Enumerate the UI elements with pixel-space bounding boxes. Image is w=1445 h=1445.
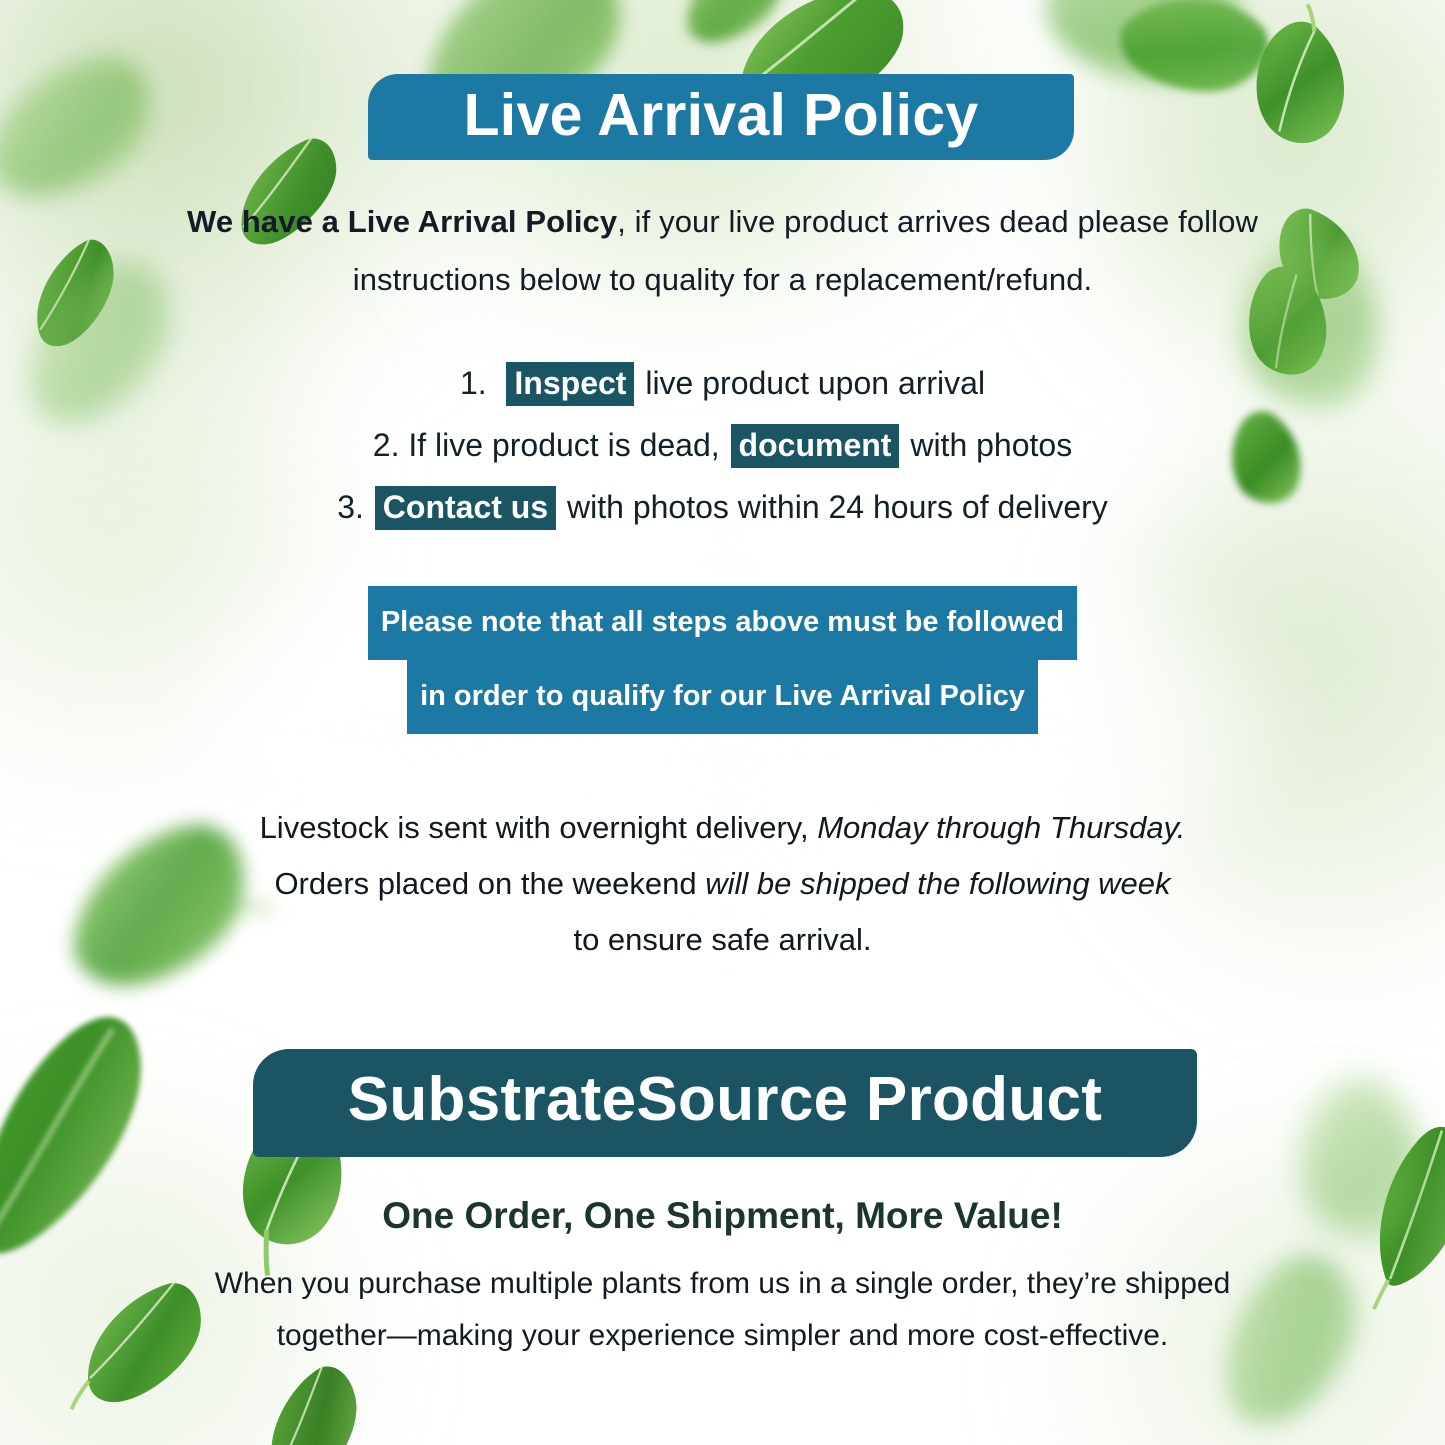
outro-line2: together—making your experience simpler … — [277, 1319, 1169, 1352]
note-line-1: Please note that all steps above must be… — [368, 586, 1077, 660]
intro-line1-rest: , if your live product arrives dead plea… — [617, 204, 1258, 239]
intro-line2: instructions below to quality for a repl… — [353, 262, 1093, 297]
policy-page-content: Live Arrival Policy We have a Live Arriv… — [0, 0, 1445, 1445]
step-highlight-inspect: Inspect — [506, 362, 634, 406]
step-number: 2. — [373, 427, 400, 463]
step-number: 3. — [337, 489, 364, 525]
intro-lead-text: We have a Live Arrival Policy — [187, 204, 617, 239]
substratesource-product-banner: SubstrateSource Product — [253, 1049, 1197, 1157]
intro-paragraph: We have a Live Arrival Policy, if your l… — [140, 193, 1305, 309]
list-item: 2. If live product is dead, document wit… — [170, 414, 1275, 476]
value-proposition-heading: One Order, One Shipment, More Value! — [170, 1190, 1275, 1242]
shipping-schedule-paragraph: Livestock is sent with overnight deliver… — [170, 800, 1275, 968]
step-text-before: If live product is dead, — [408, 427, 719, 463]
live-arrival-policy-title: Live Arrival Policy — [463, 72, 978, 158]
shipping-line1-italic: Monday through Thursday. — [817, 810, 1185, 845]
outro-line1: When you purchase multiple plants from u… — [215, 1267, 1231, 1300]
policy-steps-list: 1. Inspect live product upon arrival 2. … — [170, 352, 1275, 538]
policy-note-block: Please note that all steps above must be… — [170, 586, 1275, 734]
step-highlight-contact-us[interactable]: Contact us — [375, 486, 556, 530]
shipping-line2-italic: will be shipped the following week — [705, 866, 1170, 901]
step-number: 1. — [460, 365, 487, 401]
list-item: 3. Contact us with photos within 24 hour… — [170, 476, 1275, 538]
shipping-line1-plain: Livestock is sent with overnight deliver… — [260, 810, 818, 845]
step-text-after: with photos — [910, 427, 1072, 463]
step-text-after: live product upon arrival — [645, 365, 985, 401]
value-proposition-paragraph: When you purchase multiple plants from u… — [150, 1258, 1295, 1362]
step-text-after: with photos within 24 hours of delivery — [567, 489, 1108, 525]
note-line-2: in order to qualify for our Live Arrival… — [407, 660, 1038, 734]
list-item: 1. Inspect live product upon arrival — [170, 352, 1275, 414]
live-arrival-policy-banner: Live Arrival Policy — [368, 74, 1074, 160]
step-highlight-document: document — [731, 424, 900, 468]
shipping-line2-plain: Orders placed on the weekend — [274, 866, 705, 901]
shipping-line3: to ensure safe arrival. — [573, 922, 871, 957]
substratesource-product-title: SubstrateSource Product — [348, 1046, 1103, 1154]
